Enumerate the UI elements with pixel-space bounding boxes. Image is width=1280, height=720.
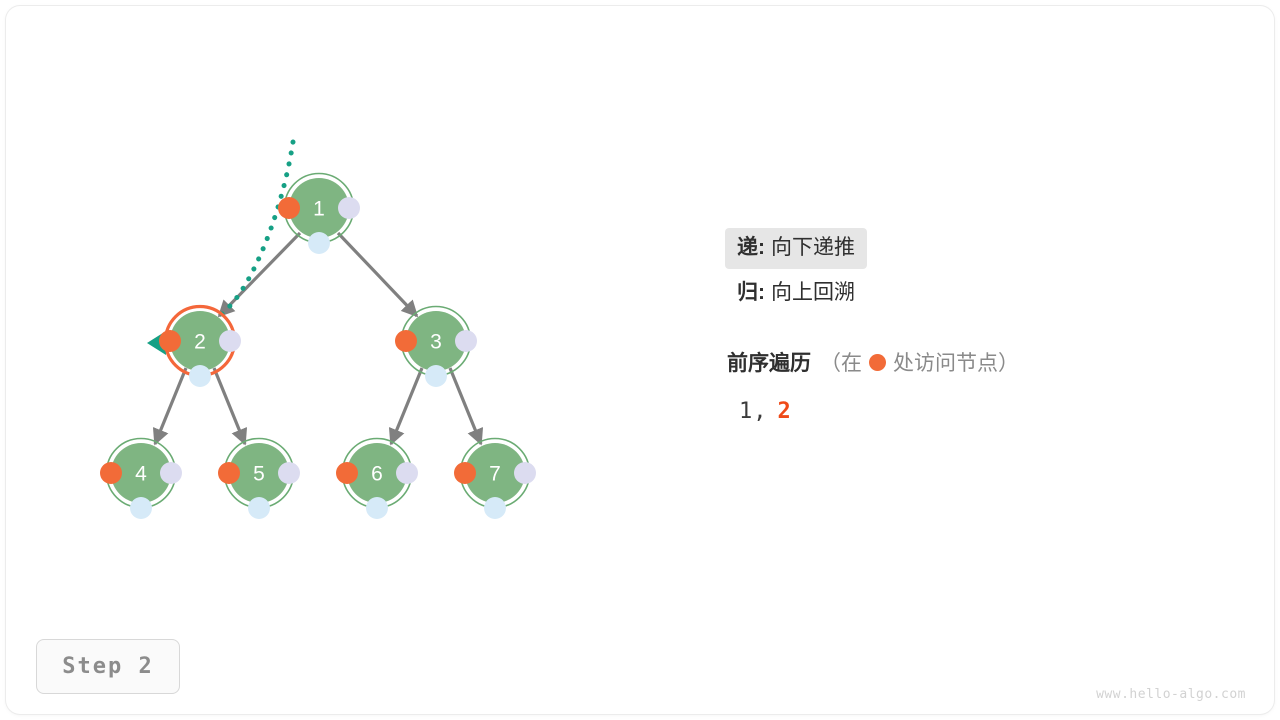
node-label: 2: [194, 331, 206, 354]
legend-descend-chip: 递: 向下递推: [725, 228, 867, 269]
inorder-marker-icon: [130, 497, 152, 519]
legend-descend-keyword: 递:: [737, 237, 765, 258]
postorder-marker-icon: [514, 462, 536, 484]
node-label: 4: [135, 463, 147, 486]
preorder-marker-icon: [278, 197, 300, 219]
step-badge: Step 2: [36, 639, 180, 694]
legend-ascend-chip: 归: 向上回溯: [725, 273, 867, 314]
tree-node-4[interactable]: 4: [100, 439, 182, 520]
postorder-marker-icon: [455, 330, 477, 352]
traversal-title-row: 前序遍历 （在 处访问节点）: [727, 347, 1247, 377]
traversal-hint: （在 处访问节点）: [820, 347, 1019, 377]
edge-n2-n5: [214, 368, 245, 444]
inorder-marker-icon: [484, 497, 506, 519]
inorder-marker-icon: [308, 232, 330, 254]
inorder-marker-icon: [248, 497, 270, 519]
node-label: 3: [430, 331, 442, 354]
preorder-marker-icon: [454, 462, 476, 484]
postorder-marker-icon: [338, 197, 360, 219]
orange-dot-icon: [869, 354, 886, 371]
postorder-marker-icon: [219, 330, 241, 352]
legend-ascend-keyword: 归:: [737, 282, 765, 303]
sequence-separator: ,: [753, 399, 767, 424]
legend-ascend-row: 归: 向上回溯: [727, 269, 1247, 314]
preorder-marker-icon: [218, 462, 240, 484]
node-label: 1: [313, 198, 325, 221]
tree-node-7[interactable]: 7: [454, 439, 536, 520]
edge-n2-n4: [155, 368, 186, 444]
figure-canvas: 1234567 递: 向下递推 归: 向上回溯 前序遍历 （在 处访问节点）: [0, 0, 1280, 720]
node-label: 5: [253, 463, 265, 486]
traversal-sequence: 1,2: [739, 399, 1247, 424]
tree-node-6[interactable]: 6: [336, 439, 418, 520]
tree-node-2[interactable]: 2: [159, 307, 241, 388]
postorder-marker-icon: [160, 462, 182, 484]
preorder-marker-icon: [100, 462, 122, 484]
node-label: 7: [489, 463, 501, 486]
preorder-marker-icon: [336, 462, 358, 484]
preorder-marker-icon: [159, 330, 181, 352]
inorder-marker-icon: [189, 365, 211, 387]
edge-n3-n6: [391, 368, 422, 444]
traversal-hint-suffix: 处访问节点）: [893, 347, 1019, 377]
binary-tree-diagram: 1234567: [0, 0, 700, 620]
inorder-marker-icon: [425, 365, 447, 387]
postorder-marker-icon: [396, 462, 418, 484]
explanation-panel: 递: 向下递推 归: 向上回溯 前序遍历 （在 处访问节点） 1,2: [727, 228, 1247, 424]
legend-ascend-text: 向上回溯: [771, 282, 855, 303]
edge-n1-n2: [219, 233, 300, 316]
tree-node-5[interactable]: 5: [218, 439, 300, 520]
sequence-item: 2: [778, 399, 792, 424]
sequence-item: 1: [739, 399, 753, 424]
edge-n3-n7: [450, 368, 481, 444]
edge-n1-n3: [338, 233, 417, 316]
tree-node-3[interactable]: 3: [395, 307, 477, 388]
node-label: 6: [371, 463, 383, 486]
footer-url: www.hello-algo.com: [1096, 687, 1246, 702]
legend-descend-row: 递: 向下递推: [727, 228, 1247, 269]
legend-descend-text: 向下递推: [771, 237, 855, 258]
postorder-marker-icon: [278, 462, 300, 484]
traversal-hint-prefix: （在: [820, 347, 862, 377]
recursion-dotted-path: [166, 142, 293, 342]
preorder-marker-icon: [395, 330, 417, 352]
tree-nodes: 1234567: [100, 174, 536, 520]
inorder-marker-icon: [366, 497, 388, 519]
traversal-title: 前序遍历: [727, 347, 811, 377]
